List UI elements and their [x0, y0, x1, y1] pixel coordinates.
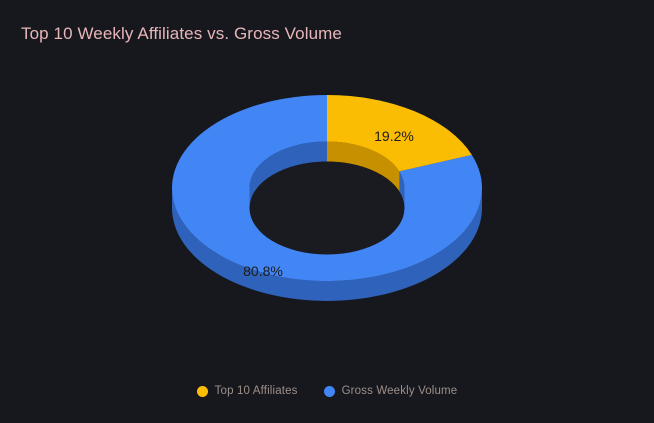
legend-item-gross-weekly-volume[interactable]: Gross Weekly Volume — [324, 385, 458, 397]
blue-slice-value-label: 80.8% — [243, 263, 283, 279]
legend-swatch-blue-icon — [324, 386, 335, 397]
donut-chart-canvas[interactable]: 19.2%80.8% — [0, 0, 654, 423]
pie-chart-figure: Top 10 Weekly Affiliates vs. Gross Volum… — [0, 0, 654, 423]
legend-label-gross-weekly-volume: Gross Weekly Volume — [342, 385, 458, 397]
donut-hole-floor — [250, 162, 405, 255]
legend-label-top-10-affiliates: Top 10 Affiliates — [215, 385, 298, 397]
legend-item-top-10-affiliates[interactable]: Top 10 Affiliates — [197, 385, 298, 397]
legend-swatch-yellow-icon — [197, 386, 208, 397]
chart-legend: Top 10 Affiliates Gross Weekly Volume — [0, 385, 654, 397]
yellow-slice-value-label: 19.2% — [374, 128, 414, 144]
